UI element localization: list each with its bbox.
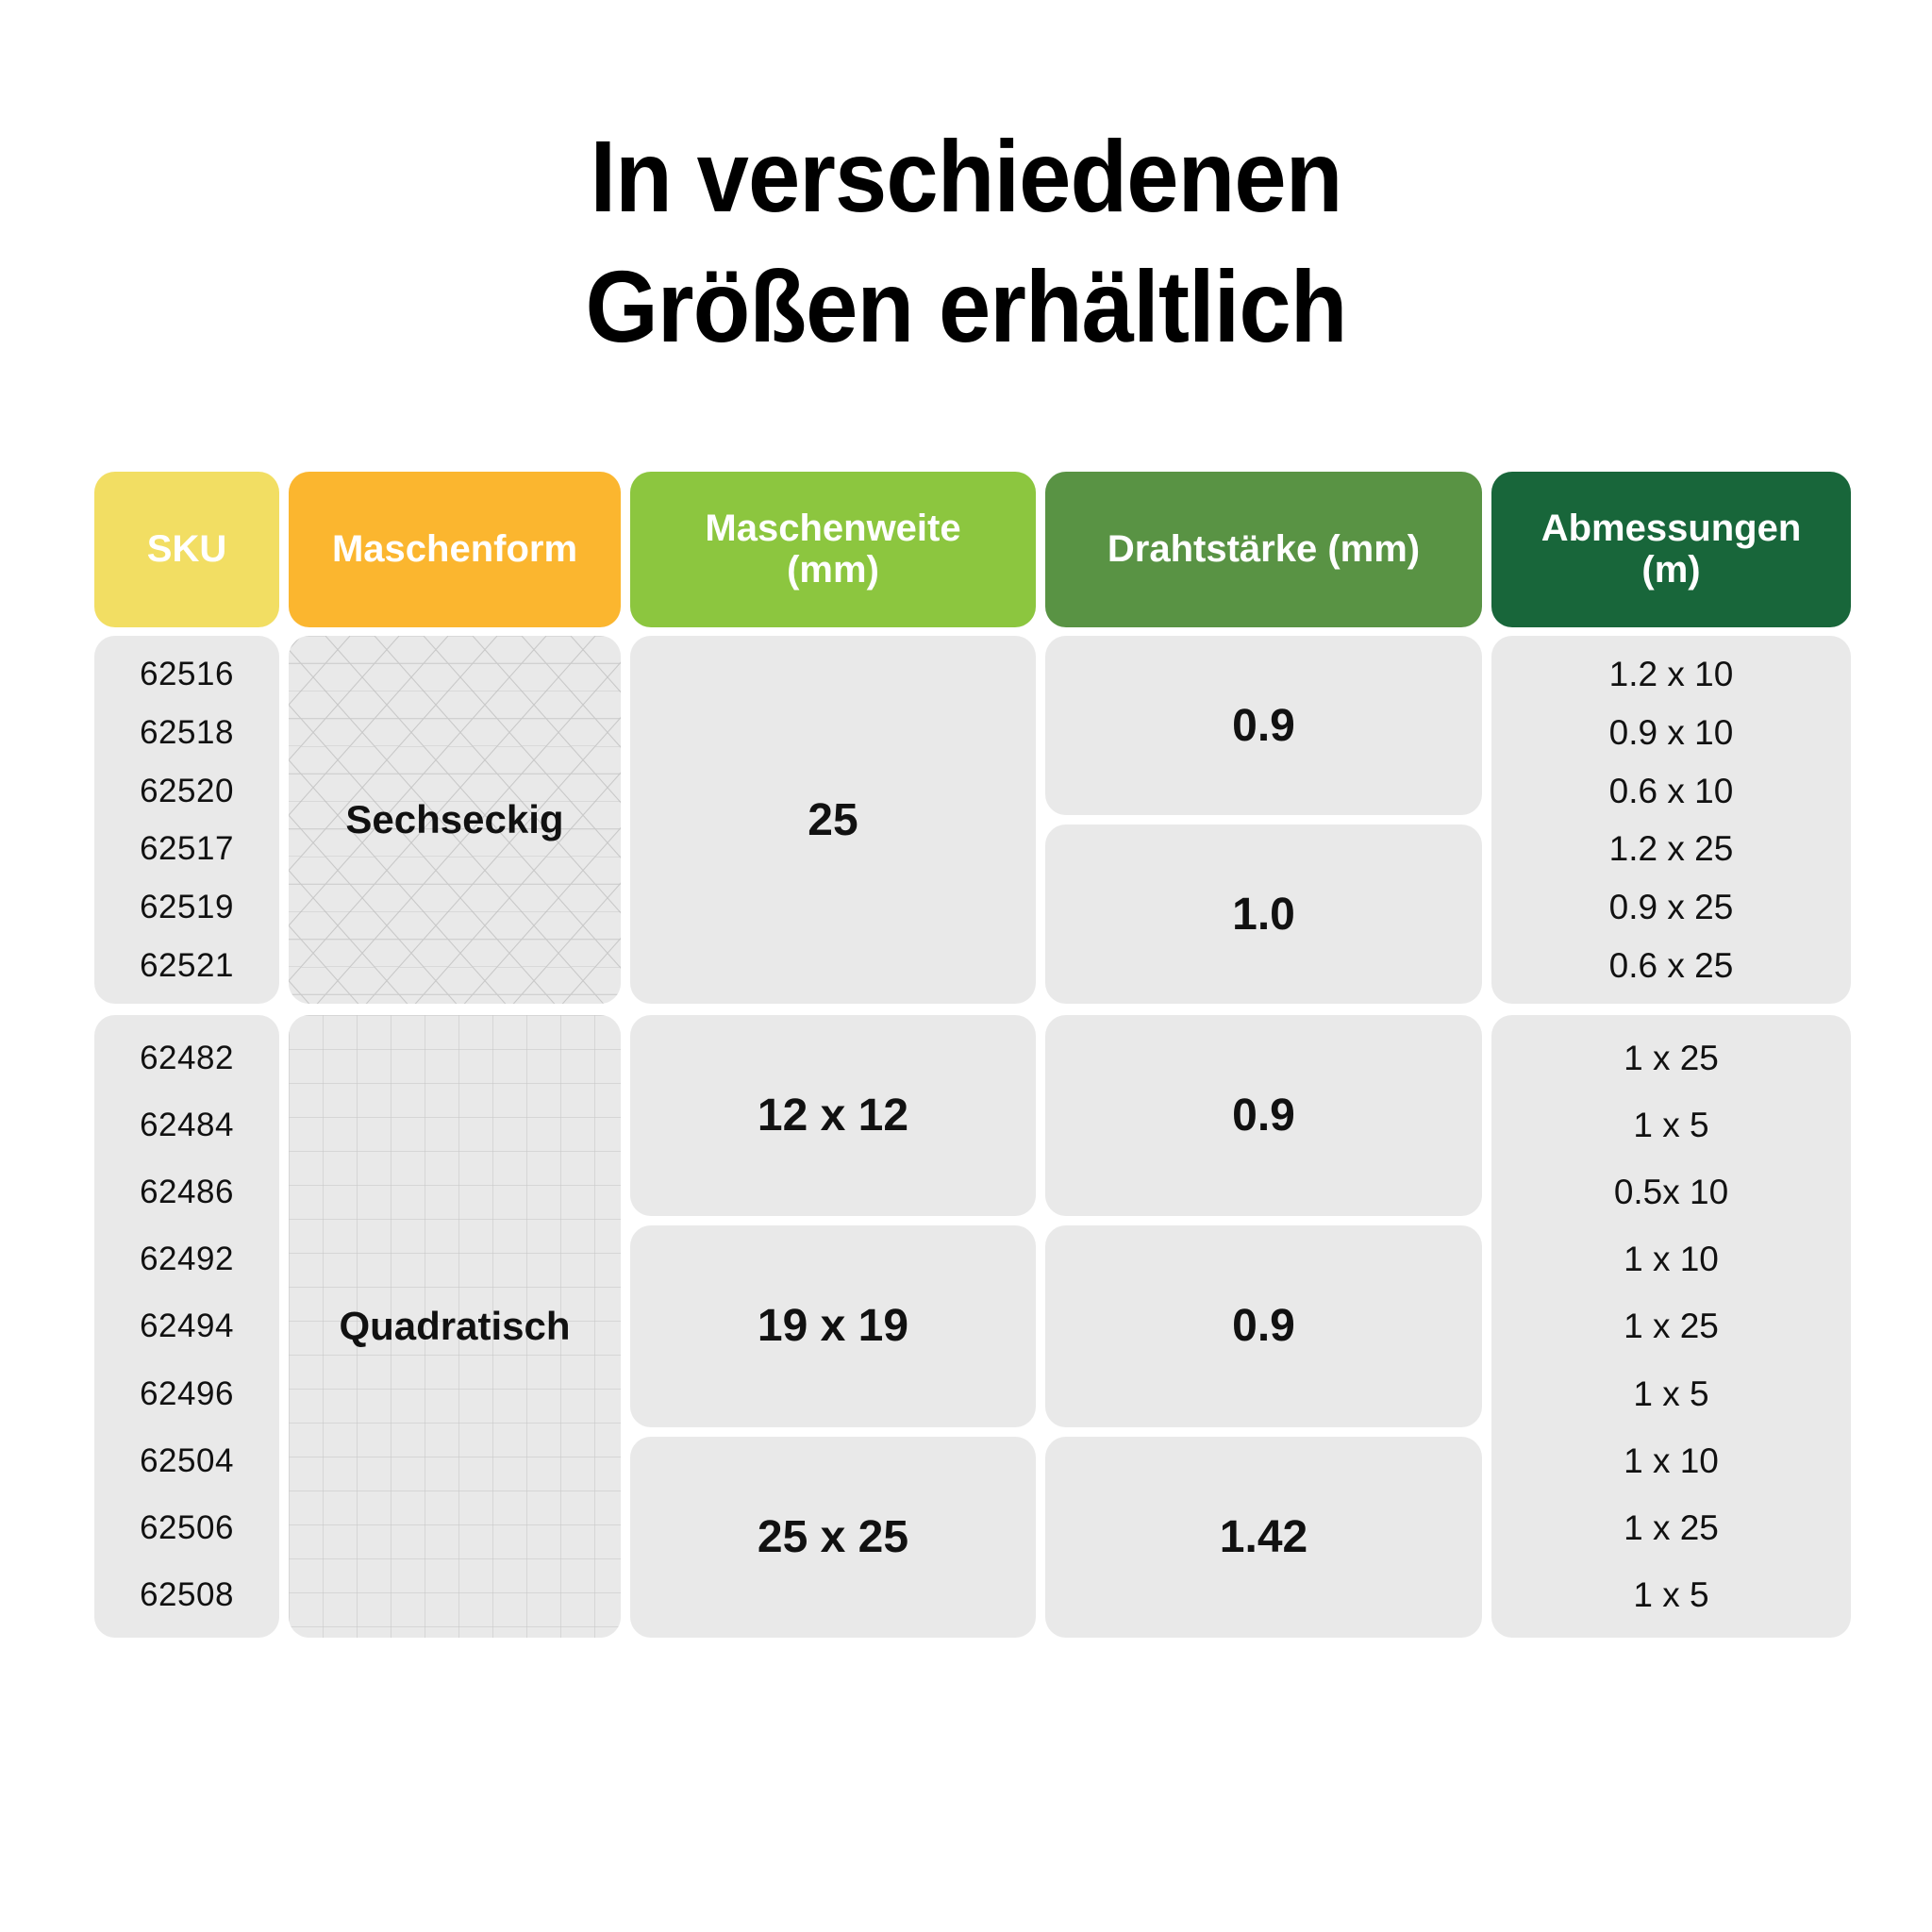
sku-value: 62496	[140, 1377, 234, 1410]
abmessungen-value: 0.6 x 25	[1609, 948, 1734, 983]
maschenweite-value: 25	[808, 794, 858, 846]
maschenweite-value: 25 x 25	[758, 1511, 908, 1563]
drahtstaerke-cell: 1.42	[1045, 1437, 1482, 1638]
page-title: In verschiedenen Größen erhältlich	[77, 111, 1855, 372]
page-title-line-2: Größen erhältlich	[77, 241, 1855, 372]
abmessungen-value: 0.5x 10	[1614, 1174, 1728, 1209]
column-header-maschenweite: Maschenweite (mm)	[630, 472, 1036, 627]
column-header-sku: SKU	[94, 472, 279, 627]
drahtstaerke-cell: 0.9	[1045, 636, 1482, 815]
column-header-abmessungen-label: Abmessungen (m)	[1541, 508, 1802, 590]
drahtstaerke-cell: 1.0	[1045, 824, 1482, 1004]
column-header-abmessungen: Abmessungen (m)	[1491, 472, 1851, 627]
abmessungen-value: 1.2 x 10	[1609, 657, 1734, 691]
column-header-abmessungen-line-1: Abmessungen	[1541, 508, 1802, 549]
page-title-line-1: In verschiedenen	[77, 111, 1855, 241]
abmessungen-value: 1 x 5	[1633, 1108, 1708, 1142]
drahtstaerke-cell: 0.9	[1045, 1015, 1482, 1216]
abmessungen-value: 1 x 25	[1624, 1510, 1719, 1545]
column-header-sku-label: SKU	[147, 529, 226, 570]
maschenform-cell: Quadratisch	[289, 1015, 621, 1638]
column-header-abmessungen-line-2: (m)	[1641, 549, 1700, 591]
abmessungen-value: 1 x 25	[1624, 1041, 1719, 1075]
drahtstaerke-value: 0.9	[1232, 700, 1295, 752]
infographic-page: In verschiedenen Größen erhältlich SKU M…	[0, 0, 1932, 1932]
abmessungen-value: 1 x 5	[1633, 1577, 1708, 1612]
column-header-drahtstaerke-label: Drahtstärke (mm)	[1108, 529, 1420, 570]
sku-value: 62486	[140, 1175, 234, 1208]
sku-value: 62521	[140, 949, 234, 982]
sku-value: 62516	[140, 658, 234, 691]
drahtstaerke-value: 0.9	[1232, 1090, 1295, 1141]
drahtstaerke-value: 1.42	[1220, 1511, 1307, 1563]
sku-value: 62492	[140, 1242, 234, 1275]
maschenweite-value: 19 x 19	[758, 1300, 908, 1352]
maschenweite-value: 12 x 12	[758, 1090, 908, 1141]
abmessungen-value: 0.6 x 10	[1609, 774, 1734, 808]
table-body: 625166251862520625176251962521 Sechsecki…	[94, 636, 1851, 1638]
abmessungen-value: 0.9 x 10	[1609, 715, 1734, 750]
column-header-maschenweite-label: Maschenweite (mm)	[705, 508, 960, 590]
column-header-drahtstaerke: Drahtstärke (mm)	[1045, 472, 1482, 627]
maschenweite-cell: 19 x 19	[630, 1225, 1036, 1426]
drahtstaerke-column: 0.91.0	[1045, 636, 1482, 1004]
maschenweite-cell: 12 x 12	[630, 1015, 1036, 1216]
sku-value: 62517	[140, 832, 234, 865]
sku-value: 62519	[140, 891, 234, 924]
abmessungen-value: 1 x 10	[1624, 1443, 1719, 1478]
abmessungen-value: 1 x 5	[1633, 1376, 1708, 1411]
sku-value: 62482	[140, 1041, 234, 1074]
drahtstaerke-cell: 0.9	[1045, 1225, 1482, 1426]
maschenweite-cell: 25 x 25	[630, 1437, 1036, 1638]
abmessungen-column-panel: 1 x 251 x 50.5x 101 x 101 x 251 x 51 x 1…	[1491, 1015, 1851, 1638]
maschenweite-column: 25	[630, 636, 1036, 1004]
abmessungen-value: 1.2 x 25	[1609, 831, 1734, 866]
sku-value: 62484	[140, 1108, 234, 1141]
column-header-maschenform: Maschenform	[289, 472, 621, 627]
column-header-maschenweite-line-1: Maschenweite	[705, 508, 960, 549]
table-header-row: SKU Maschenform Maschenweite (mm) Drahts…	[94, 472, 1851, 627]
drahtstaerke-value: 0.9	[1232, 1300, 1295, 1352]
table-section: 6248262484624866249262494624966250462506…	[94, 1015, 1851, 1638]
maschenweite-cell: 25	[630, 636, 1036, 1004]
column-header-maschenform-label: Maschenform	[332, 529, 577, 570]
sku-value: 62518	[140, 716, 234, 749]
column-header-maschenweite-line-2: (mm)	[787, 549, 879, 591]
table-section: 625166251862520625176251962521 Sechsecki…	[94, 636, 1851, 1004]
maschenform-label: Sechseckig	[345, 797, 563, 842]
abmessungen-column-panel: 1.2 x 100.9 x 100.6 x 101.2 x 250.9 x 25…	[1491, 636, 1851, 1004]
sku-value: 62508	[140, 1578, 234, 1611]
sku-value: 62520	[140, 774, 234, 808]
sku-value: 62506	[140, 1511, 234, 1544]
sku-column-panel: 625166251862520625176251962521	[94, 636, 279, 1004]
drahtstaerke-value: 1.0	[1232, 889, 1295, 941]
sku-value: 62494	[140, 1309, 234, 1342]
sku-value: 62504	[140, 1444, 234, 1477]
abmessungen-value: 1 x 25	[1624, 1308, 1719, 1343]
sku-column-panel: 6248262484624866249262494624966250462506…	[94, 1015, 279, 1638]
maschenform-label: Quadratisch	[339, 1304, 570, 1349]
abmessungen-value: 0.9 x 25	[1609, 890, 1734, 924]
maschenweite-column: 12 x 1219 x 1925 x 25	[630, 1015, 1036, 1638]
maschenform-cell: Sechseckig	[289, 636, 621, 1004]
drahtstaerke-column: 0.90.91.42	[1045, 1015, 1482, 1638]
abmessungen-value: 1 x 10	[1624, 1241, 1719, 1276]
size-table: SKU Maschenform Maschenweite (mm) Drahts…	[94, 472, 1851, 1638]
